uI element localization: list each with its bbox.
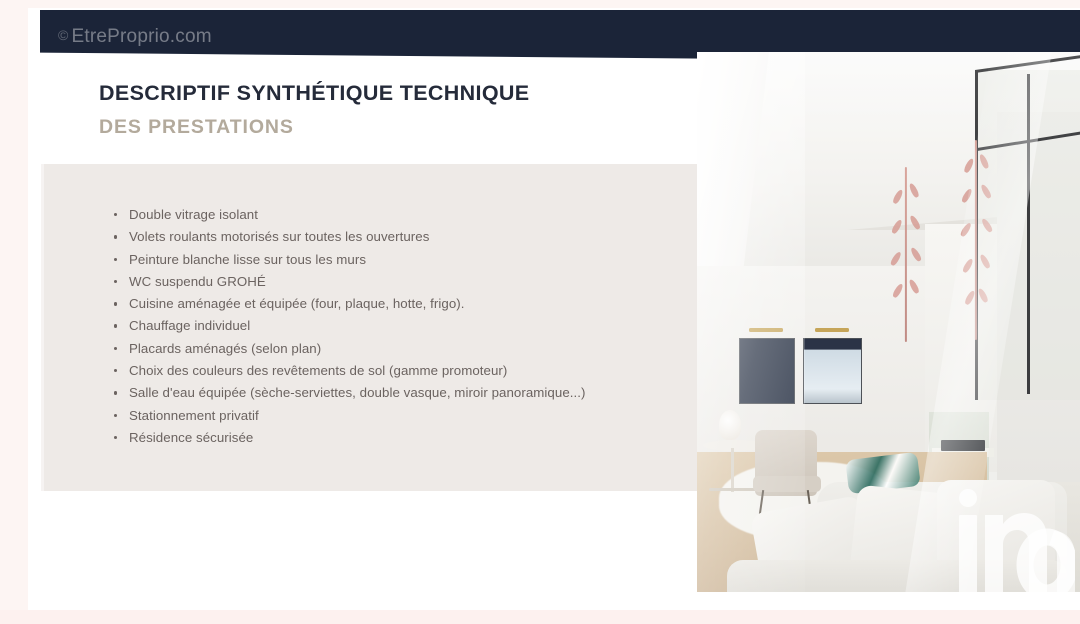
branch-leaf	[909, 215, 921, 231]
branch-stem	[905, 167, 907, 342]
photo-kitchen-hob	[941, 440, 985, 451]
branch-leaf	[892, 283, 904, 299]
watermark-site-name: EtreProprio.com	[72, 26, 212, 47]
branch-leaf	[892, 189, 904, 205]
photo-sofa-seat	[727, 560, 1067, 592]
branch-leaf	[980, 218, 993, 234]
list-item: Peinture blanche lisse sur tous les murs	[112, 251, 672, 268]
photo-table-foot	[709, 488, 757, 491]
botanical-print-icon	[889, 167, 923, 342]
list-item: Chauffage individuel	[112, 317, 672, 334]
list-item: Choix des couleurs des revêtements de so…	[112, 362, 672, 379]
botanical-print-icon	[959, 140, 993, 340]
wall-art-frame	[803, 338, 862, 404]
list-item: Volets roulants motorisés sur toutes les…	[112, 228, 672, 245]
list-item: Cuisine aménagée et équipée (four, plaqu…	[112, 295, 672, 312]
branch-leaf	[908, 279, 920, 295]
branch-leaf	[980, 184, 992, 200]
heading-block: DESCRIPTIF SYNTHÉTIQUE TECHNIQUE DES PRE…	[99, 80, 719, 139]
copyright-icon: ©	[58, 27, 69, 43]
page-subtitle: DES PRESTATIONS	[99, 116, 719, 139]
photo-table-leg	[731, 448, 734, 492]
branch-leaf	[959, 222, 972, 238]
slide-screenshot: ©EtreProprio.com DESCRIPTIF SYNTHÉTIQUE …	[0, 0, 1080, 624]
branch-leaf	[889, 251, 902, 267]
list-item: Double vitrage isolant	[112, 206, 672, 223]
page-bottom-strip	[0, 610, 1080, 624]
branch-leaf	[909, 247, 922, 263]
branch-leaf	[962, 258, 974, 274]
watermark-etreproprio: ©EtreProprio.com	[58, 26, 212, 48]
list-item: Stationnement privatif	[112, 407, 672, 424]
list-item: Résidence sécurisée	[112, 429, 672, 446]
list-item: Salle d'eau équipée (sèche-serviettes, d…	[112, 384, 672, 401]
page-title: DESCRIPTIF SYNTHÉTIQUE TECHNIQUE	[99, 80, 719, 107]
branch-leaf	[963, 158, 975, 174]
specifications-list: Double vitrage isolant Volets roulants m…	[112, 206, 672, 451]
interior-photo	[697, 52, 1080, 592]
picture-light-icon	[749, 328, 783, 332]
list-item: WC suspendu GROHÉ	[112, 273, 672, 290]
branch-leaf	[908, 183, 920, 199]
branch-leaf	[979, 254, 991, 270]
photo-vase	[719, 410, 741, 440]
photo-content	[697, 52, 1080, 592]
photo-partition-mullion	[1027, 74, 1030, 394]
branch-leaf	[891, 219, 903, 235]
branch-leaf	[961, 188, 973, 204]
picture-light-icon	[815, 328, 849, 332]
branch-leaf	[977, 288, 989, 304]
wall-art-frame	[739, 338, 795, 404]
branch-leaf	[964, 290, 976, 306]
branch-stem	[975, 140, 977, 340]
list-item: Placards aménagés (selon plan)	[112, 340, 672, 357]
branch-leaf	[978, 154, 989, 170]
